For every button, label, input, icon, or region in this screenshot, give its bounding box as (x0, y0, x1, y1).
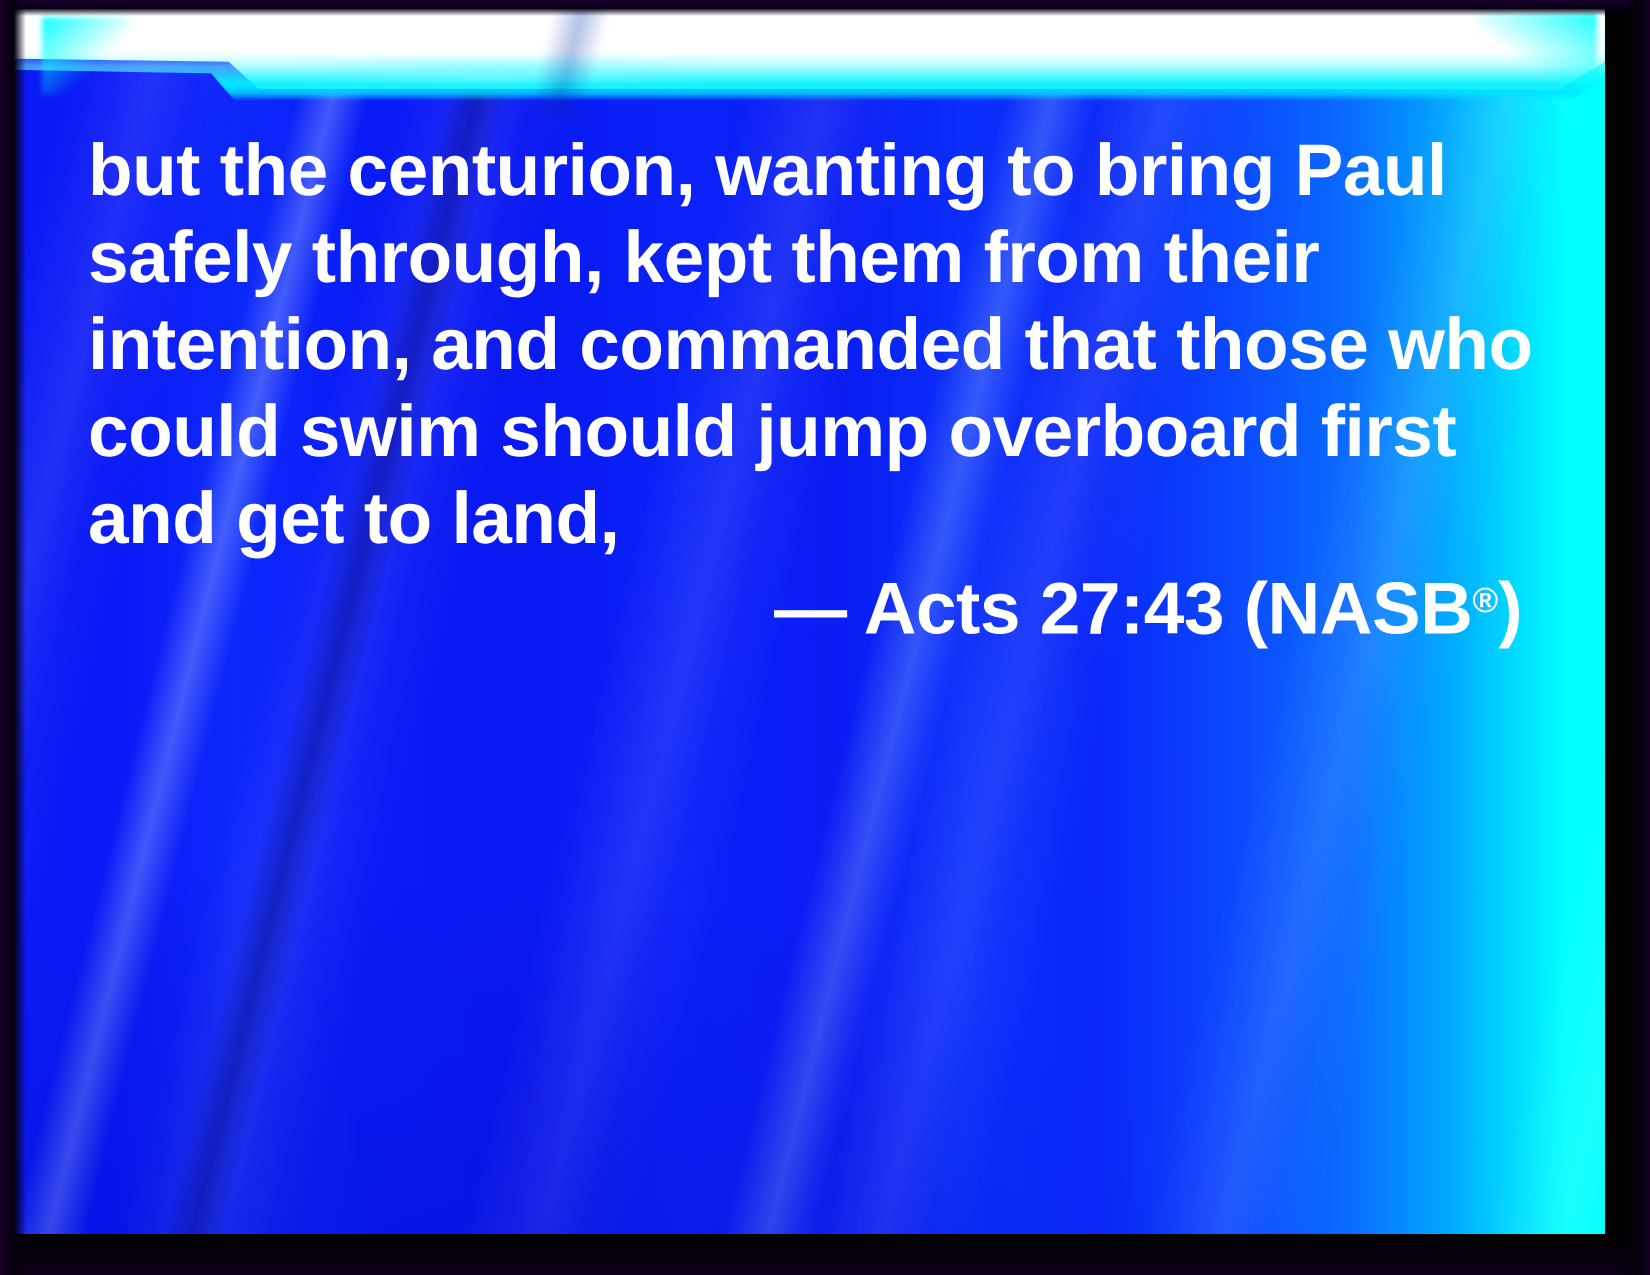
verse-line-3: intention, and commanded that those who (88, 301, 1568, 388)
verse-line-2: safely through, kept them from their (88, 214, 1568, 301)
registered-trademark-icon: ® (1472, 581, 1498, 620)
verse-line-1: but the centurion, wanting to bring Paul (88, 127, 1568, 214)
verse-attribution: — Acts 27:43 (NASB®) (88, 557, 1522, 653)
attribution-prefix: — Acts 27:43 (NASB (774, 569, 1472, 650)
verse-line-5: and get to land, (88, 475, 1568, 562)
attribution-suffix: ) (1498, 569, 1522, 650)
slide-canvas: but the centurion, wanting to bring Paul… (12, 9, 1605, 1234)
verse-line-4: could swim should jump overboard first (88, 388, 1568, 475)
verse-slide: but the centurion, wanting to bring Paul… (0, 0, 1650, 1275)
verse-text-block: but the centurion, wanting to bring Paul… (88, 127, 1568, 562)
